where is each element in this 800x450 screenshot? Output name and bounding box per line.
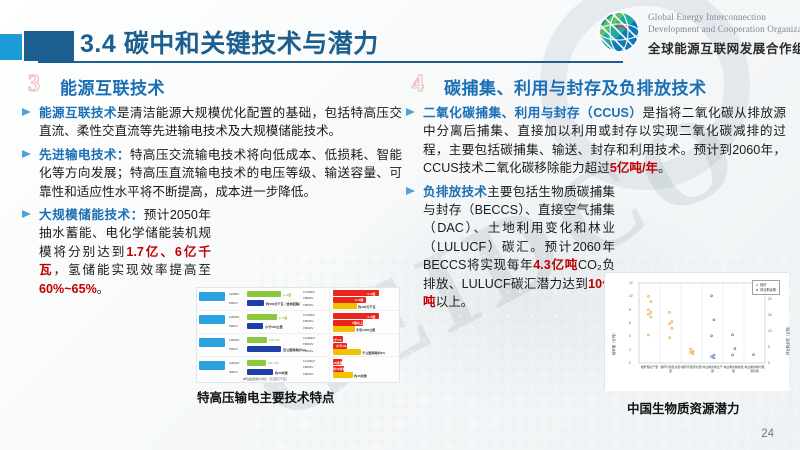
uhv-bar-value: 4~5倍 — [367, 314, 375, 319]
uhv-bar-value: 4~5倍 — [367, 291, 375, 296]
x-tick-label: 林业剩余物生产量 — [702, 365, 724, 373]
page-number: 24 — [761, 428, 774, 440]
uhv-voltage-label: 1000kV — [229, 338, 240, 343]
y-tick-left: 12 — [629, 281, 633, 285]
left-bullet-3-body-b: ，氢储能实现效率提高至 — [54, 263, 212, 277]
left-bullet-2-lead: 先进输电技术： — [39, 148, 130, 162]
header-accent-bar-dark — [24, 31, 74, 61]
title-underline — [38, 61, 623, 63]
x-tick-label: 林业剩余物收集量 — [723, 365, 745, 373]
uhv-bar — [333, 326, 355, 332]
uhv-voltage-label: ±500kV — [303, 349, 313, 354]
uhv-row-tag — [199, 361, 225, 370]
uhv-voltage-label: 1000kV — [229, 361, 240, 366]
logo-english-name: Global Energy Interconnection Developmen… — [648, 11, 800, 35]
right-bullet-1-lead: 二氧化碳捕集、利用与封存（CCUS） — [423, 106, 642, 120]
uhv-bar-value: 约36米宽 — [333, 366, 346, 371]
right-bullet-2-lead: 负排放技术 — [423, 185, 487, 199]
uhv-bar — [247, 314, 277, 320]
globe-logo-icon — [596, 9, 642, 55]
y-tick-left: 8 — [629, 308, 631, 312]
left-bullet-3-lead: 大规模储能技术： — [39, 208, 144, 222]
y-axis-right-label: 林业剩余物（亿吨） — [785, 324, 790, 355]
logo-en-line1: Global Energy Interconnection — [648, 11, 800, 23]
uhv-bar — [247, 360, 266, 366]
legend-label: 林业剩余物 — [760, 288, 776, 292]
left-bullet-3-highlight-b: 60%~65% — [39, 282, 97, 296]
x-tick-label: 林业剩余物可能源化量 — [744, 365, 766, 373]
left-bullet-1-lead: 能源互联技术 — [39, 106, 117, 120]
uhv-bar — [333, 349, 361, 355]
logo-chinese-name: 全球能源互联网发展合作组织 — [648, 38, 800, 57]
uhv-voltage-label: ±500kV — [303, 303, 313, 308]
uhv-bar-value: 4~5倍 — [283, 292, 291, 297]
slide-root: GEIDCO 3.4 碳中和关键技术与潜力 — [0, 0, 800, 450]
uhv-bar-value: 小于500公里 — [265, 324, 283, 329]
uhv-voltage-label: ±800kV — [303, 319, 313, 324]
right-bullet-1-text: 二氧化碳捕集、利用与封存（CCUS）是指将二氧化碳从排放源中分离后捕集、直接加以… — [423, 104, 786, 178]
uhv-bar-value: 1/2~1/3 — [268, 361, 278, 365]
uhv-voltage-label: ±800kV — [303, 365, 313, 370]
left-column: 3 能源互联技术 能源互联技术是清洁能源大规模优化配置的基础，包括特高压交直流、… — [22, 74, 402, 303]
scatter-plot-area: 024681012 0510152025 秸秆理论产量秸秆可收集资源量秸秆可能源… — [605, 273, 789, 391]
y-tick-left: 2 — [629, 348, 631, 352]
y-tick-left: 6 — [629, 321, 631, 325]
right-bullet-2-text: 负排放技术主要包括生物质碳捕集与封存（BECCS）、直接空气捕集（DAC）、土地… — [423, 183, 615, 312]
right-bullet-1-body-b: 。 — [658, 161, 671, 175]
bullet-arrow-icon — [22, 108, 31, 116]
uhv-bar-value: 约500万千瓦（含两回路） — [266, 301, 302, 306]
right-section-header: 4 碳捕集、利用与封存及负排放技术 — [406, 74, 788, 100]
left-section-header: 3 能源互联技术 — [22, 74, 402, 100]
y-tick-right: 20 — [768, 297, 772, 301]
y-tick-right: 15 — [768, 313, 772, 317]
uhv-bar — [333, 303, 357, 309]
legend-label: 秸秆 — [760, 283, 766, 287]
uhv-bar-value: 2倍以上 — [352, 320, 363, 325]
uhv-voltage-label: ±1100kV — [303, 290, 315, 295]
uhv-row-tag — [199, 292, 225, 301]
uhv-bar — [333, 372, 353, 378]
bullet-arrow-icon — [22, 210, 31, 218]
uhv-row-tag — [199, 338, 225, 347]
uhv-bar — [247, 346, 281, 352]
uhv-voltage-label: ±800kV — [303, 296, 313, 301]
uhv-voltage-label: 500kV — [229, 347, 238, 352]
uhv-bar — [247, 369, 273, 375]
bullet-arrow-icon — [22, 150, 31, 158]
left-bullet-2-text: 先进输电技术：特高压交流输电技术将向低成本、低损耗、智能化等方向发展；特高压直流… — [39, 146, 402, 201]
uhv-row: 1000kV500kV2~3倍小于500公里±1100kV±800kV±500k… — [197, 311, 399, 334]
uhv-voltage-label: ±1100kV — [303, 359, 315, 364]
uhv-footnote: 单位输送造价对比（元/百万千瓦） — [243, 377, 289, 381]
left-bullet-1: 能源互联技术是清洁能源大规模优化配置的基础，包括特高压交直流、柔性交直流等先进输… — [22, 104, 402, 141]
uhv-voltage-label: ±500kV — [303, 372, 313, 377]
bullet-arrow-icon — [406, 108, 415, 116]
uhv-bar-value: 2~3倍 — [279, 315, 287, 320]
legend-marker-icon — [756, 284, 758, 286]
uhv-bar-value: 千公里损耗约4% — [362, 350, 385, 355]
x-tick-label: 秸秆可收集资源量 — [660, 365, 682, 373]
uhv-bar — [247, 337, 267, 343]
uhv-bar-value: 2~3倍 — [355, 297, 363, 302]
y-tick-left: 0 — [629, 361, 631, 365]
left-bullet-1-text: 能源互联技术是清洁能源大规模优化配置的基础，包括特高压交直流、柔性交直流等先进输… — [39, 104, 402, 141]
chart-legend: 秸秆林业剩余物 — [752, 280, 780, 295]
legend-marker-icon — [756, 289, 758, 291]
left-bullet-2: 先进输电技术：特高压交流输电技术将向低成本、低损耗、智能化等方向发展；特高压直流… — [22, 146, 402, 201]
uhv-voltage-label: 500kV — [229, 324, 238, 329]
uhv-figure-caption: 特高压输电主要技术特点 — [197, 387, 335, 406]
right-bullet-2-body-c: 以上。 — [436, 295, 474, 309]
uhv-voltage-label: ±1100kV — [303, 336, 315, 341]
uhv-bar — [247, 291, 281, 297]
uhv-bar-value: 不足1000公里 — [356, 327, 375, 332]
uhv-bar-value: 约26米宽 — [330, 360, 343, 365]
uhv-row: 1000kV500kV1/2~1/3约30米宽±1100kV±800kV±500… — [197, 357, 399, 380]
y-tick-left: 10 — [629, 294, 633, 298]
uhv-comparison-figure: 1100kV500kV4~5倍约500万千瓦（含两回路）±1100kV±800k… — [196, 287, 400, 383]
uhv-voltage-label: 1000kV — [229, 315, 240, 320]
uhv-rows-container: 1100kV500kV4~5倍约500万千瓦（含两回路）±1100kV±800k… — [197, 288, 399, 380]
biomass-potential-chart: 024681012 0510152025 秸秆理论产量秸秆可收集资源量秸秆可能源… — [604, 272, 788, 390]
left-bullet-3-body-c: 。 — [97, 282, 110, 296]
x-tick-label: 秸秆理论产量 — [639, 365, 661, 369]
y-tick-left: 4 — [629, 334, 631, 338]
right-bullet-1-highlight-a: 5亿吨/年 — [610, 161, 658, 175]
uhv-bar-value: 约300万千瓦 — [358, 304, 376, 309]
slide-header: 3.4 碳中和关键技术与潜力 — [0, 0, 800, 72]
right-section-number: 4 — [412, 71, 424, 98]
header-accent-bar-light — [0, 34, 22, 60]
left-bullet-3-text: 大规模储能技术：预计2050年抽水蓄能、电化学储能装机规模将分别达到1.7亿、6… — [39, 206, 211, 298]
left-bullet-3: 大规模储能技术：预计2050年抽水蓄能、电化学储能装机规模将分别达到1.7亿、6… — [22, 206, 402, 298]
uhv-bar-value: 1/3~1/4 — [269, 338, 279, 342]
page-title: 3.4 碳中和关键技术与潜力 — [80, 24, 379, 60]
left-section-title: 能源互联技术 — [60, 74, 165, 99]
uhv-bar — [247, 323, 263, 329]
uhv-bar-value: 约30米宽 — [275, 370, 288, 375]
y-axis-left-label: 秸秆量（亿吨） — [611, 331, 616, 355]
legend-entry: 林业剩余物 — [756, 288, 776, 293]
organization-logo: Global Energy Interconnection Developmen… — [596, 6, 796, 62]
uhv-bar — [247, 300, 264, 306]
biomass-figure-caption: 中国生物质资源潜力 — [627, 398, 740, 417]
y-tick-right: 5 — [768, 345, 770, 349]
left-section-number: 3 — [28, 71, 40, 98]
logo-en-line2: Development and Cooperation Organization — [648, 23, 800, 35]
uhv-voltage-label: ±800kV — [303, 342, 313, 347]
right-bullet-2-highlight-a: 4.3亿吨 — [533, 258, 578, 272]
uhv-voltage-label: 1100kV — [229, 292, 239, 297]
uhv-voltage-label: 500kV — [229, 301, 238, 306]
uhv-row: 1100kV500kV4~5倍约500万千瓦（含两回路）±1100kV±800k… — [197, 288, 399, 311]
uhv-bar-value: 约45米宽 — [354, 373, 367, 378]
bullet-arrow-icon — [406, 187, 415, 195]
uhv-bar-value: 小于1/4 — [331, 337, 342, 342]
right-bullet-1: 二氧化碳捕集、利用与封存（CCUS）是指将二氧化碳从排放源中分离后捕集、直接加以… — [406, 104, 788, 178]
uhv-voltage-label: ±1100kV — [303, 313, 315, 318]
y-tick-right: 0 — [768, 361, 770, 365]
uhv-voltage-label: 500kV — [229, 370, 238, 375]
uhv-voltage-label: ±500kV — [303, 326, 313, 331]
right-section-title: 碳捕集、利用与封存及负排放技术 — [444, 74, 707, 99]
x-tick-label: 秸秆可能源化量 — [681, 365, 703, 369]
uhv-row-tag — [199, 315, 225, 324]
uhv-row: 1000kV500kV1/3~1/4百公里损耗约1%±1100kV±800kV±… — [197, 334, 399, 357]
uhv-bar-value: 小于1/2 — [336, 343, 347, 348]
y-tick-right: 10 — [768, 329, 772, 333]
